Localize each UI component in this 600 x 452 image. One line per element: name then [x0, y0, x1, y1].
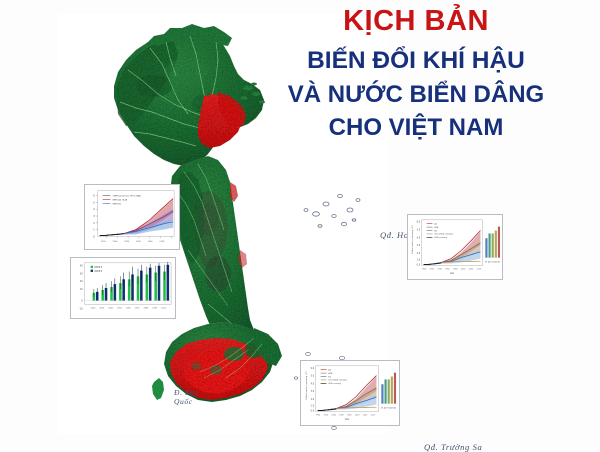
svg-text:CMIP3 projection (IPCC AR4): CMIP3 projection (IPCC AR4) [112, 195, 141, 198]
svg-text:2.0: 2.0 [311, 398, 315, 401]
chart-inset-global-warming-right: Global surface warming (°C) 6.0 5.0 4.0 … [407, 214, 503, 280]
svg-text:2030: 2030 [99, 307, 105, 309]
svg-text:1960: 1960 [445, 268, 449, 270]
svg-text:20: 20 [80, 280, 84, 283]
svg-text:2100: 2100 [161, 307, 167, 309]
svg-text:A1B: A1B [434, 226, 439, 229]
svg-text:20th century: 20th century [328, 382, 341, 385]
svg-text:1900: 1900 [422, 268, 426, 270]
svg-text:1900: 1900 [101, 241, 107, 243]
svg-text:1.0: 1.0 [417, 259, 421, 262]
svg-text:2100: 2100 [159, 241, 165, 243]
svg-text:10: 10 [80, 288, 84, 291]
svg-text:2100: 2100 [371, 414, 375, 416]
terrain-patch [136, 75, 172, 97]
svg-text:A1B: A1B [328, 372, 333, 375]
svg-text:2020: 2020 [91, 307, 97, 309]
label-phu-quoc-line2: Quốc [174, 397, 193, 406]
terrain-patch [191, 362, 201, 370]
svg-text:SRES B1: SRES B1 [112, 203, 121, 205]
chart-inset-temperature-projection: 6 5 4 3 2 1 0 19001940 19802020 20602100 [84, 184, 180, 250]
svg-text:2000: 2000 [355, 414, 359, 416]
svg-text:0.0: 0.0 [311, 409, 315, 412]
svg-text:2000: 2000 [461, 268, 465, 270]
svg-text:B1: B1 [485, 262, 487, 264]
climate-scenario-poster: Qđ. Hoàng Sa Qđ. Trường Sa Đ. Phú Quốc K… [0, 0, 600, 451]
svg-text:2090: 2090 [152, 307, 158, 309]
svg-text:5.0: 5.0 [417, 229, 421, 232]
svg-text:RCP4.5: RCP4.5 [95, 266, 103, 269]
svg-text:20th century: 20th century [434, 236, 447, 239]
svg-text:Global surface warming (°C): Global surface warming (°C) [411, 225, 414, 254]
label-phu-quoc: Đ. Phú Quốc [174, 388, 199, 407]
terrain-patch [205, 256, 231, 292]
title-main: KỊCH BẢN [240, 6, 592, 36]
poster-title-block: KỊCH BẢN BIẾN ĐỔI KHÍ HẬU VÀ NƯỚC BIỂN D… [240, 6, 592, 144]
chart-bar-svg: 40 30 20 10 0 -10 [71, 258, 175, 318]
svg-text:1980: 1980 [347, 414, 351, 416]
svg-text:B1: B1 [381, 408, 383, 410]
svg-text:2050: 2050 [117, 307, 123, 309]
svg-text:1920: 1920 [324, 414, 328, 416]
svg-text:0.0: 0.0 [417, 263, 421, 266]
chart-right-svg: Global surface warming (°C) 6.0 5.0 4.0 … [408, 215, 502, 279]
svg-text:2020: 2020 [469, 268, 473, 270]
svg-text:SRES A2 / A1B: SRES A2 / A1B [112, 199, 127, 202]
svg-text:1980: 1980 [124, 241, 130, 243]
svg-text:2.0: 2.0 [417, 252, 421, 255]
svg-text:2100: 2100 [477, 268, 481, 270]
svg-text:2060: 2060 [126, 307, 132, 309]
svg-text:3.0: 3.0 [311, 390, 315, 393]
svg-text:Year 2000 constant: Year 2000 constant [328, 379, 347, 382]
svg-text:40: 40 [80, 265, 84, 268]
svg-text:2070: 2070 [135, 307, 141, 309]
svg-text:Global surface warming (°C): Global surface warming (°C) [305, 371, 308, 400]
svg-text:-10: -10 [79, 307, 83, 310]
svg-text:6.0: 6.0 [417, 221, 421, 224]
svg-text:Year: Year [450, 272, 455, 275]
svg-text:4.0: 4.0 [311, 382, 315, 385]
svg-text:1980: 1980 [453, 268, 457, 270]
svg-text:Year: Year [345, 418, 350, 421]
svg-text:1920: 1920 [430, 268, 434, 270]
svg-text:1900: 1900 [316, 414, 320, 416]
title-line-1: BIẾN ĐỔI KHÍ HẬU [240, 44, 592, 78]
svg-text:5.0: 5.0 [311, 375, 315, 378]
svg-text:2020: 2020 [136, 241, 142, 243]
terrain-patch [198, 203, 218, 235]
svg-text:4.0: 4.0 [417, 236, 421, 239]
svg-text:2080: 2080 [144, 307, 150, 309]
title-line-3: CHO VIỆT NAM [240, 111, 592, 144]
svg-text:1940: 1940 [112, 241, 118, 243]
chart-inset-sea-level-bars: 40 30 20 10 0 -10 [70, 257, 176, 319]
svg-text:6.0: 6.0 [311, 367, 315, 370]
chart-tl-svg: 6 5 4 3 2 1 0 19001940 19802020 20602100 [85, 185, 179, 249]
svg-text:1940: 1940 [437, 268, 441, 270]
svg-text:3.0: 3.0 [417, 244, 421, 247]
svg-text:30: 30 [80, 272, 84, 275]
svg-text:2060: 2060 [148, 241, 154, 243]
label-phu-quoc-line1: Đ. Phú [174, 388, 199, 397]
svg-text:2040: 2040 [108, 307, 114, 309]
svg-text:RCP8.5: RCP8.5 [95, 270, 103, 273]
title-line-2: VÀ NƯỚC BIỂN DÂNG [240, 78, 592, 111]
svg-text:1.0: 1.0 [311, 405, 315, 408]
svg-text:1960: 1960 [339, 414, 343, 416]
chart-bottom-svg: Global surface warming (°C) 6.0 5.0 4.0 … [301, 361, 399, 425]
svg-text:2020: 2020 [363, 414, 367, 416]
chart-inset-global-warming-bottom: Global surface warming (°C) 6.0 5.0 4.0 … [300, 360, 400, 426]
svg-text:Year 2000 constant: Year 2000 constant [434, 233, 453, 236]
svg-text:1940: 1940 [331, 414, 335, 416]
